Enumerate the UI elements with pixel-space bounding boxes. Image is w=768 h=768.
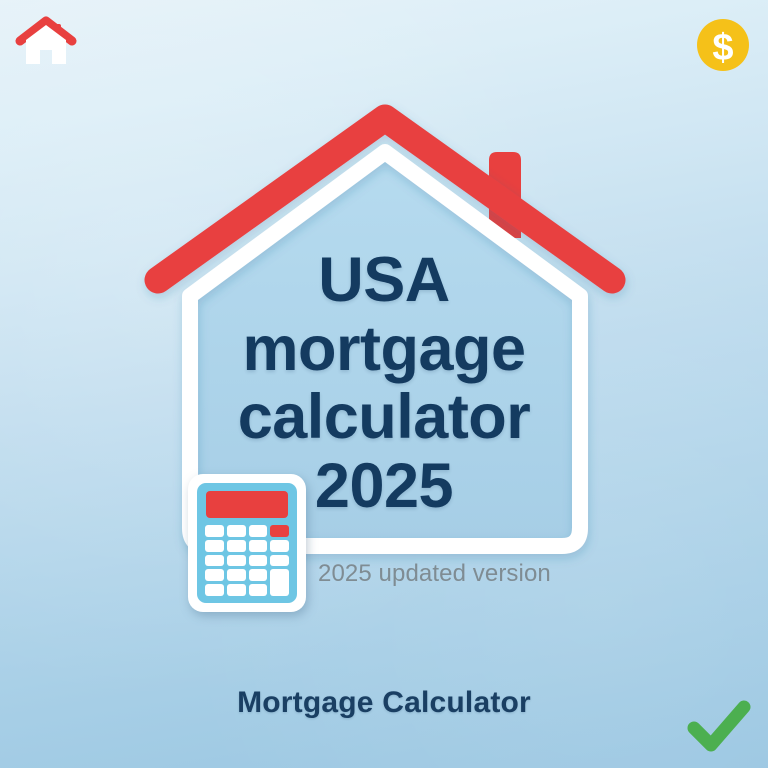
calculator-key [227,525,246,537]
calculator-key [249,569,268,581]
title-line-3: calculator [200,383,568,452]
title-line-1: USA [200,246,568,315]
calculator-key [270,555,289,567]
calculator-key-enter [270,569,289,596]
calculator-key [249,540,268,552]
calculator-key-red [270,525,289,537]
subtitle-text: 2025 updated version [318,560,551,588]
calculator-key [249,525,268,537]
caption-text: Mortgage Calculator [0,686,768,720]
check-icon-svg [684,692,754,758]
home-icon [14,14,78,76]
title-line-2: mortgage [200,315,568,384]
dollar-coin-icon: $ [692,14,754,76]
calculator-key [227,540,246,552]
calculator-display [206,491,288,518]
calculator-key [205,569,224,581]
calculator-key [249,584,268,596]
svg-text:$: $ [712,27,733,69]
calculator-key [205,555,224,567]
calculator-body [197,483,297,603]
calculator-key [205,540,224,552]
home-icon-svg [14,14,78,76]
calculator-key [249,555,268,567]
calculator-key [227,569,246,581]
calculator-key [205,584,224,596]
dollar-coin-svg: $ [692,14,754,76]
calculator-key [227,555,246,567]
calculator-key [270,540,289,552]
calculator-key [205,525,224,537]
check-icon [684,692,754,758]
poster-canvas: $ USA mortgage calculator [0,0,768,768]
calculator-keypad [205,525,289,596]
calculator-key [227,584,246,596]
calculator-icon [188,474,306,612]
